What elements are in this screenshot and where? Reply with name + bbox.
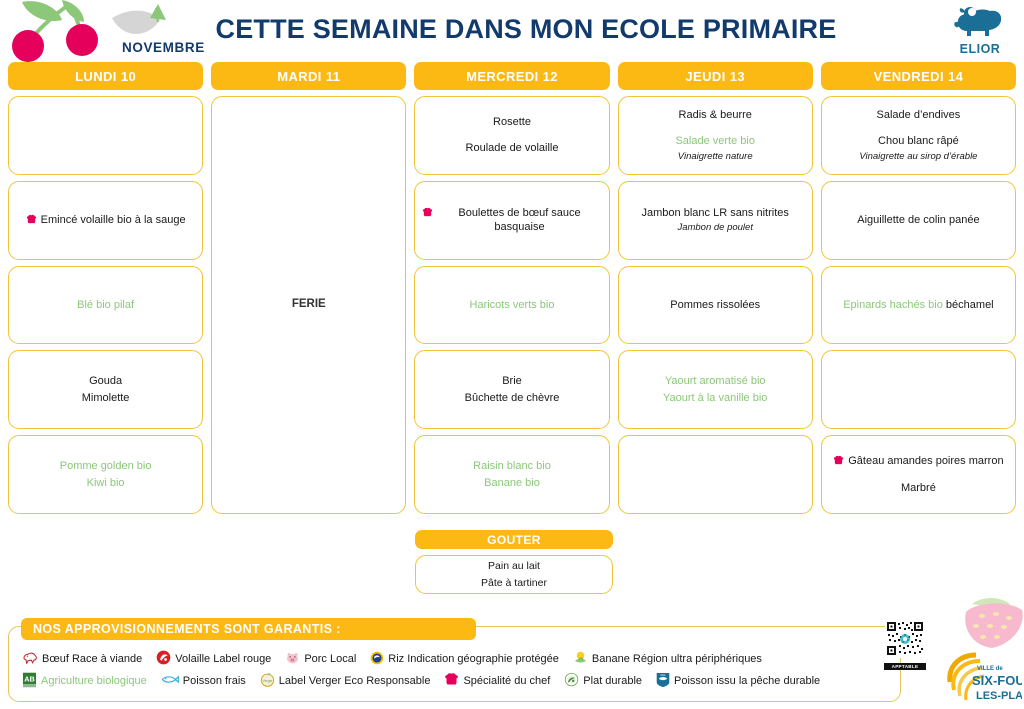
chef-hat-icon <box>444 672 459 690</box>
msc-fish-icon: MSC <box>656 672 670 691</box>
legend-item-pig: Porc Local <box>285 651 356 668</box>
svg-text:AB: AB <box>24 674 35 683</box>
label-rouge-icon <box>156 650 171 668</box>
legend-label: Poisson frais <box>183 675 246 687</box>
qr-caption: APPTABLE <box>884 663 926 670</box>
menu-cell: Haricots verts bio <box>414 266 609 345</box>
sustainable-dish-icon <box>564 672 579 690</box>
dish-subtitle: Vinaigrette nature <box>678 151 753 164</box>
menu-cell <box>618 435 813 514</box>
dish-name: Brie <box>502 374 522 389</box>
dish-name: Roulade de volaille <box>466 141 559 156</box>
chef-special-line: Emincé volaille bio à la sauge <box>26 213 186 228</box>
legend-label: Bœuf Race à viande <box>42 653 142 665</box>
qr-code[interactable]: APPTABLE <box>884 620 926 668</box>
legend-label: Banane Région ultra périphériques <box>592 653 762 665</box>
igp-rice-icon <box>370 651 384 668</box>
dish-name: Emincé volaille bio à la sauge <box>41 213 186 228</box>
menu-cell: Pommes rissolées <box>618 266 813 345</box>
dish-name: Radis & beurre <box>679 108 752 123</box>
dish-name: Pomme golden bio <box>60 459 152 474</box>
day-header-lundi: LUNDI 10 <box>8 62 203 90</box>
cow-icon <box>22 651 38 667</box>
svg-text:MSC: MSC <box>661 674 666 676</box>
chef-special-line: Boulettes de bœuf sauce basquaise <box>422 206 601 235</box>
svg-text:LES-PLAGES: LES-PLAGES <box>976 690 1022 702</box>
legend-label: Volaille Label rouge <box>175 653 271 665</box>
menu-column-mardi: FERIE <box>211 96 406 514</box>
dish-name: Bûchette de chèvre <box>465 391 560 406</box>
legend-label: Spécialité du chef <box>463 675 550 687</box>
legend-label: Poisson issu la pêche durable <box>674 675 820 687</box>
chef-hat-icon <box>833 455 844 466</box>
menu-cell: Pomme golden bioKiwi bio <box>8 435 203 514</box>
menu-cell-ferie: FERIE <box>211 96 406 514</box>
day-header-vendredi: VENDREDI 14 <box>821 62 1016 90</box>
legend-item-verger-eco: VergerLabel Verger Eco Responsable <box>260 672 431 690</box>
dish-name: Marbré <box>901 481 936 496</box>
svg-text:VILLE de: VILLE de <box>977 666 1003 672</box>
dish-subtitle: Vinaigrette au sirop d’érable <box>859 151 977 164</box>
city-logo-six-fours: VILLE de SIX-FOURS LES-PLAGES <box>944 652 1022 708</box>
dish-name: Banane bio <box>484 476 540 491</box>
legend-label: Label Verger Eco Responsable <box>279 675 431 687</box>
menu-grid: Emincé volaille bio à la saugeBlé bio pi… <box>0 90 1024 514</box>
fish-icon <box>161 674 179 688</box>
day-header-mardi: MARDI 11 <box>211 62 406 90</box>
menu-cell: Blé bio pilaf <box>8 266 203 345</box>
dish-name: Aiguillette de colin panée <box>857 213 979 228</box>
ferie-label: FERIE <box>292 297 326 312</box>
menu-column-mercredi: RosetteRoulade de volailleBoulettes de b… <box>414 96 609 514</box>
dish-name: Yaourt à la vanille bio <box>663 391 767 406</box>
legend-item-msc-fish: MSCPoisson issu la pêche durable <box>656 672 820 691</box>
dish-name: Jambon blanc LR sans nitrites <box>642 206 789 221</box>
chef-special-line: Gâteau amandes poires marron <box>833 454 1003 469</box>
menu-cell: Jambon blanc LR sans nitritesJambon de p… <box>618 181 813 260</box>
strawberry-decoration <box>952 596 1024 656</box>
menu-cell <box>821 350 1016 429</box>
menu-cell: RosetteRoulade de volaille <box>414 96 609 175</box>
dish-name: Salade d’endives <box>877 108 961 123</box>
menu-cell: Raisin blanc bioBanane bio <box>414 435 609 514</box>
legend-row-2: ABAgriculture biologiquePoisson fraisVer… <box>22 670 891 692</box>
menu-cell: Salade d’endivesChou blanc râpéVinaigret… <box>821 96 1016 175</box>
dish-name: Salade verte bio <box>675 134 755 149</box>
menu-cell <box>8 96 203 175</box>
dish-name: Raisin blanc bio <box>473 459 551 474</box>
svg-text:Verger: Verger <box>262 679 273 683</box>
legend-item-chef-hat: Spécialité du chef <box>444 672 550 690</box>
ab-organic-icon: AB <box>22 672 37 691</box>
dish-name: Haricots verts bio <box>470 298 555 313</box>
day-header-jeudi: JEUDI 13 <box>618 62 813 90</box>
legend-item-sustainable-dish: Plat durable <box>564 672 642 690</box>
dish-name: Gouda <box>89 374 122 389</box>
menu-cell: Epinards hachés bio béchamel <box>821 266 1016 345</box>
menu-cell: Boulettes de bœuf sauce basquaise <box>414 181 609 260</box>
legend-item-cow: Bœuf Race à viande <box>22 651 142 667</box>
legend-item-banana: Banane Région ultra périphériques <box>573 650 762 668</box>
legend-row-1: Bœuf Race à viandeVolaille Label rougePo… <box>22 648 891 670</box>
footer-legend: NOS APPROVISIONNEMENTS SONT GARANTIS : B… <box>8 618 901 702</box>
menu-column-jeudi: Radis & beurreSalade verte bioVinaigrett… <box>618 96 813 514</box>
poster-header: NOVEMBRE CETTE SEMAINE DANS MON ECOLE PR… <box>0 0 1024 62</box>
page-title: CETTE SEMAINE DANS MON ECOLE PRIMAIRE <box>0 14 1024 45</box>
menu-cell: Aiguillette de colin panée <box>821 181 1016 260</box>
elior-logo: ELIOR <box>944 4 1016 56</box>
legend-item-ab-organic: ABAgriculture biologique <box>22 672 147 691</box>
dish-name: Mimolette <box>82 391 130 406</box>
gouter-section: GOUTER Pain au lait Pâte à tartiner <box>0 530 1024 608</box>
legend-list: Bœuf Race à viandeVolaille Label rougePo… <box>22 648 891 692</box>
legend-title: NOS APPROVISIONNEMENTS SONT GARANTIS : <box>21 618 476 640</box>
menu-cell: Emincé volaille bio à la sauge <box>8 181 203 260</box>
dish-name: Epinards hachés bio béchamel <box>843 298 993 313</box>
legend-label: Agriculture biologique <box>41 675 147 687</box>
pig-icon <box>285 651 300 668</box>
dish-name: Kiwi bio <box>87 476 125 491</box>
menu-cell: Gâteau amandes poires marronMarbré <box>821 435 1016 514</box>
menu-column-lundi: Emincé volaille bio à la saugeBlé bio pi… <box>8 96 203 514</box>
gouter-item: Pain au lait <box>488 559 540 573</box>
verger-eco-icon: Verger <box>260 672 275 690</box>
legend-label: Riz Indication géographie protégée <box>388 653 559 665</box>
dish-name: Rosette <box>493 115 531 130</box>
legend-item-igp-rice: Riz Indication géographie protégée <box>370 651 559 668</box>
svg-text:SIX-FOURS: SIX-FOURS <box>972 673 1022 688</box>
dish-subtitle: Jambon de poulet <box>677 222 753 235</box>
dish-name: Yaourt aromatisé bio <box>665 374 766 389</box>
bison-icon <box>951 4 1009 40</box>
legend-label: Porc Local <box>304 653 356 665</box>
qr-code-icon[interactable] <box>885 620 925 658</box>
dish-name-suffix: béchamel <box>943 299 994 311</box>
chef-hat-icon <box>26 214 37 225</box>
dish-name: Boulettes de bœuf sauce basquaise <box>437 206 601 235</box>
menu-cell: Yaourt aromatisé bioYaourt à la vanille … <box>618 350 813 429</box>
menu-cell: Radis & beurreSalade verte bioVinaigrett… <box>618 96 813 175</box>
menu-cell: BrieBûchette de chèvre <box>414 350 609 429</box>
menu-poster: NOVEMBRE CETTE SEMAINE DANS MON ECOLE PR… <box>0 0 1024 709</box>
gouter-title: GOUTER <box>415 530 613 549</box>
legend-item-label-rouge: Volaille Label rouge <box>156 650 271 668</box>
legend-item-fish: Poisson frais <box>161 674 246 688</box>
menu-cell: GoudaMimolette <box>8 350 203 429</box>
legend-label: Plat durable <box>583 675 642 687</box>
dish-name: Gâteau amandes poires marron <box>848 454 1003 469</box>
elior-wordmark: ELIOR <box>944 42 1016 56</box>
gouter-item: Pâte à tartiner <box>481 576 547 590</box>
banana-icon <box>573 650 588 668</box>
dish-name: Pommes rissolées <box>670 298 760 313</box>
day-headers: LUNDI 10 MARDI 11 MERCREDI 12 JEUDI 13 V… <box>0 62 1024 90</box>
chef-hat-icon <box>422 207 433 218</box>
dish-name: Blé bio pilaf <box>77 298 134 313</box>
day-header-mercredi: MERCREDI 12 <box>414 62 609 90</box>
gouter-cell: Pain au lait Pâte à tartiner <box>415 555 613 594</box>
menu-column-vendredi: Salade d’endivesChou blanc râpéVinaigret… <box>821 96 1016 514</box>
dish-name: Chou blanc râpé <box>878 134 959 149</box>
